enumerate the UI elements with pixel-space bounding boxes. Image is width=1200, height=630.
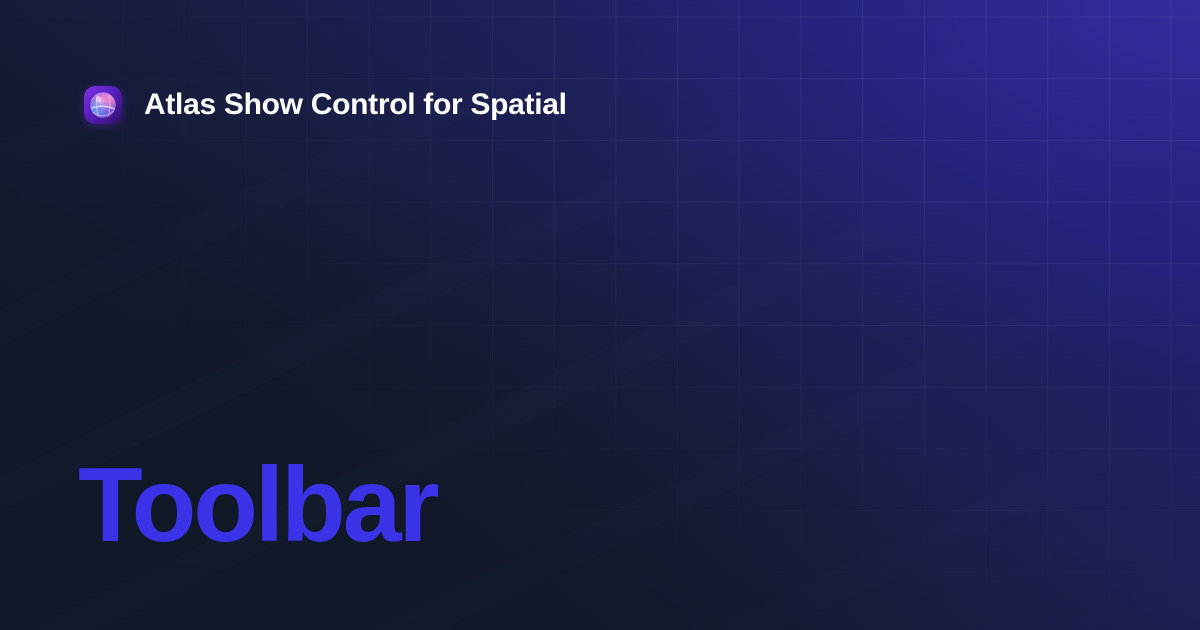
brand-title: Atlas Show Control for Spatial bbox=[144, 90, 567, 120]
atlas-orb-logo-icon bbox=[84, 86, 122, 124]
card-content: Atlas Show Control for Spatial Toolbar bbox=[0, 0, 1200, 630]
og-card: Atlas Show Control for Spatial Toolbar bbox=[0, 0, 1200, 630]
hero-section: Toolbar bbox=[78, 452, 436, 558]
page-title: Toolbar bbox=[78, 452, 436, 558]
brand-header: Atlas Show Control for Spatial bbox=[84, 86, 567, 124]
